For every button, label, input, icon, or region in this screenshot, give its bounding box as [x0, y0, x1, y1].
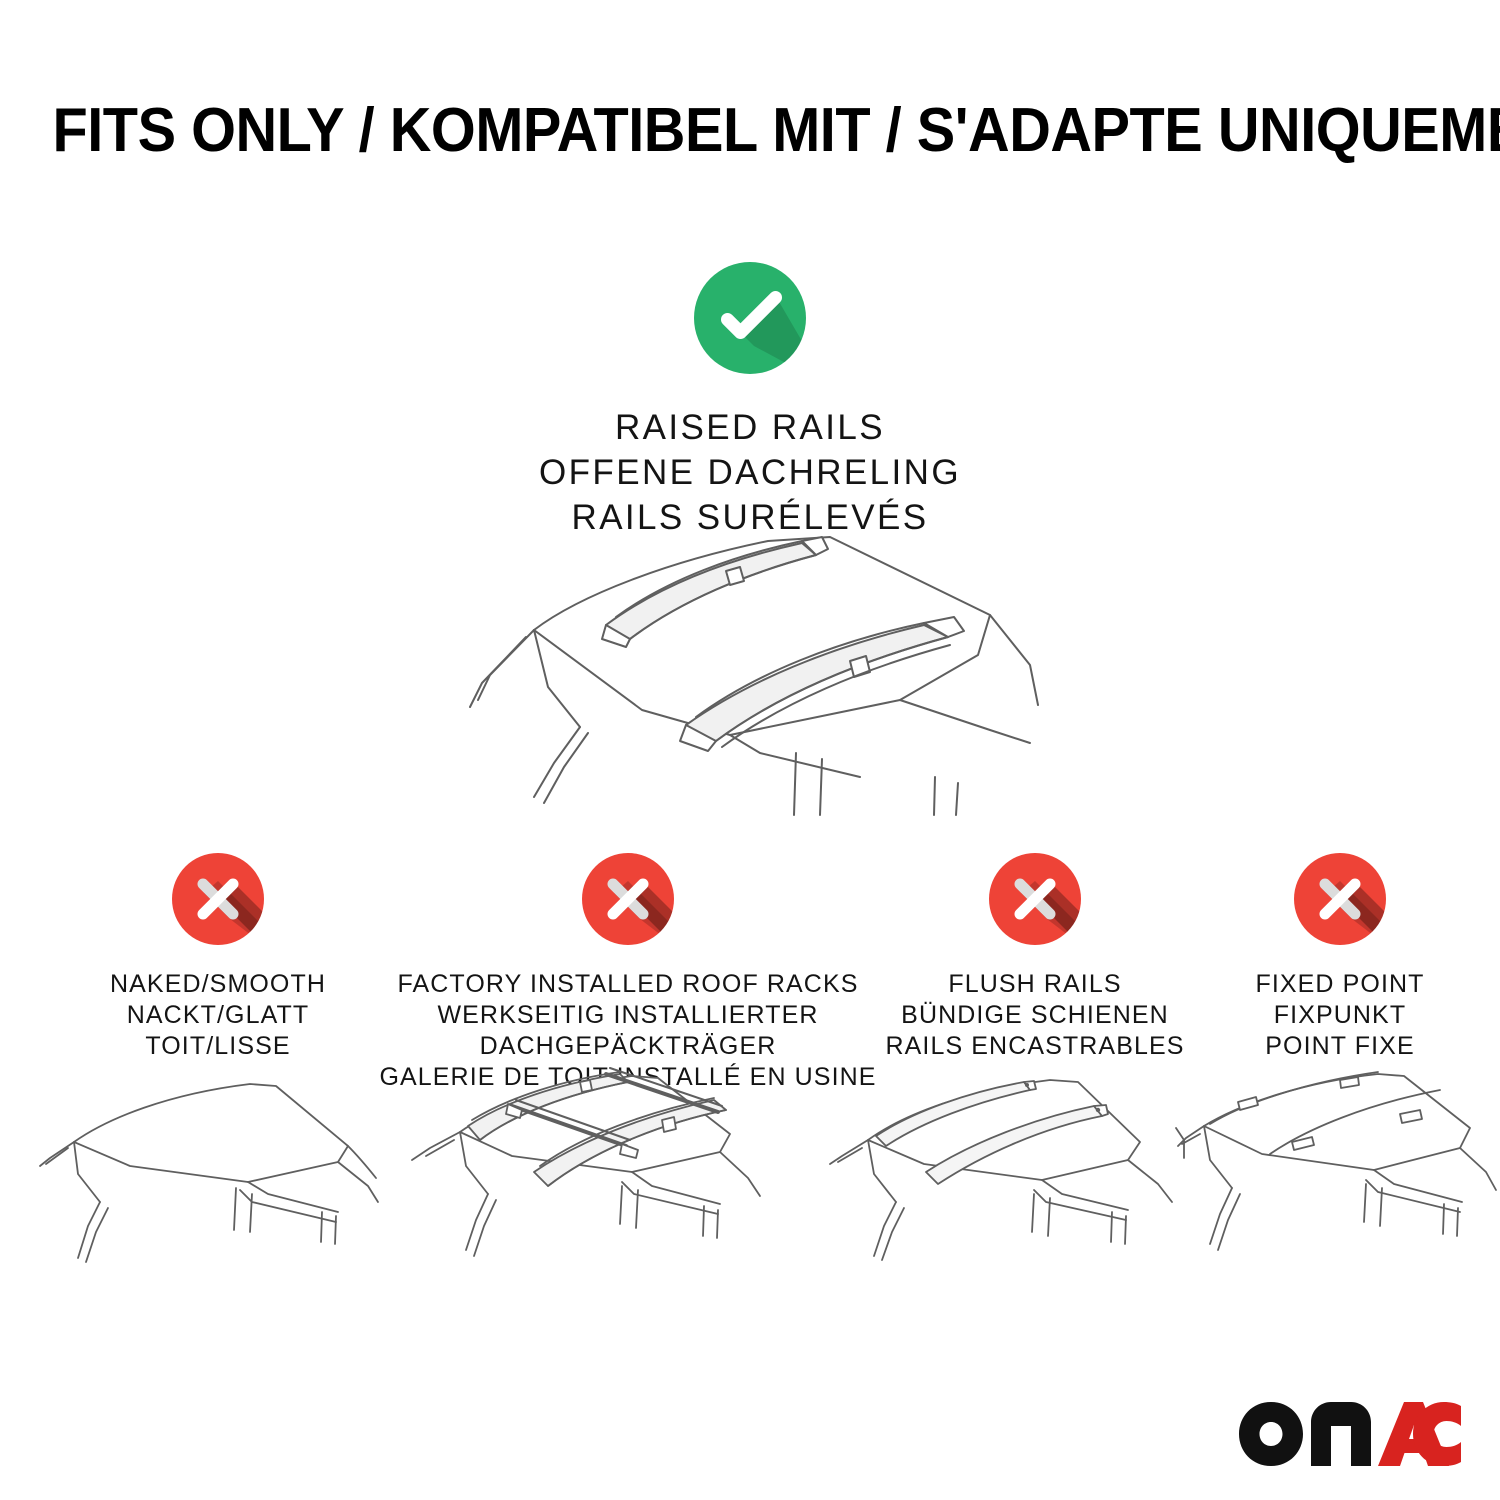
cross-circle-icon — [1294, 853, 1386, 945]
naked-smooth-line-1: NAKED/SMOOTH — [110, 969, 326, 1000]
flush-rails-caption: FLUSH RAILS BÜNDIGE SCHIENEN RAILS ENCAS… — [885, 969, 1184, 1062]
fixed-point-caption: FIXED POINT FIXPUNKT POINT FIXE — [1255, 969, 1424, 1062]
fixed-point-line-1: FIXED POINT — [1255, 969, 1424, 1000]
naked-smooth-line-3: TOIT/LISSE — [110, 1031, 326, 1062]
flush-rails-line-3: RAILS ENCASTRABLES — [885, 1031, 1184, 1062]
cross-circle-icon — [989, 853, 1081, 945]
compatible-line-1: RAISED RAILS — [539, 406, 961, 451]
factory-racks-line-2: WERKSEITIG INSTALLIERTER — [379, 1000, 876, 1031]
factory-racks-line-1: FACTORY INSTALLED ROOF RACKS — [379, 969, 876, 1000]
bare-roof-illustration — [38, 1062, 388, 1292]
flush-rails-line-2: BÜNDIGE SCHIENEN — [885, 1000, 1184, 1031]
fixed-point-line-2: FIXPUNKT — [1255, 1000, 1424, 1031]
incompatible-panel-fixed-point: FIXED POINT FIXPUNKT POINT FIXE — [1180, 853, 1500, 1062]
factory-crossbars-illustration — [408, 1060, 768, 1292]
compatible-panel: RAISED RAILS OFFENE DACHRELING RAILS SUR… — [450, 262, 1050, 540]
raised-rails-illustration — [430, 515, 1080, 815]
naked-smooth-line-2: NACKT/GLATT — [110, 1000, 326, 1031]
fixed-points-illustration — [1178, 1062, 1500, 1292]
check-circle-icon — [694, 262, 806, 374]
omac-logo — [1237, 1400, 1463, 1468]
flush-rails-illustration — [828, 1062, 1188, 1292]
cross-circle-icon — [582, 853, 674, 945]
fixed-point-line-3: POINT FIXE — [1255, 1031, 1424, 1062]
cross-circle-icon — [172, 853, 264, 945]
incompatible-panel-flush-rails: FLUSH RAILS BÜNDIGE SCHIENEN RAILS ENCAS… — [855, 853, 1215, 1062]
incompatible-panel-naked-smooth: NAKED/SMOOTH NACKT/GLATT TOIT/LISSE — [48, 853, 388, 1062]
page-title: FITS ONLY / KOMPATIBEL MIT / S'ADAPTE UN… — [53, 98, 1448, 163]
naked-smooth-caption: NAKED/SMOOTH NACKT/GLATT TOIT/LISSE — [110, 969, 326, 1062]
factory-racks-line-3: DACHGEPÄCKTRÄGER — [379, 1031, 876, 1062]
flush-rails-line-1: FLUSH RAILS — [885, 969, 1184, 1000]
compatible-line-2: OFFENE DACHRELING — [539, 451, 961, 496]
compatibility-infographic: FITS ONLY / KOMPATIBEL MIT / S'ADAPTE UN… — [0, 0, 1500, 1500]
incompatible-panel-factory-racks: FACTORY INSTALLED ROOF RACKS WERKSEITIG … — [398, 853, 858, 1093]
